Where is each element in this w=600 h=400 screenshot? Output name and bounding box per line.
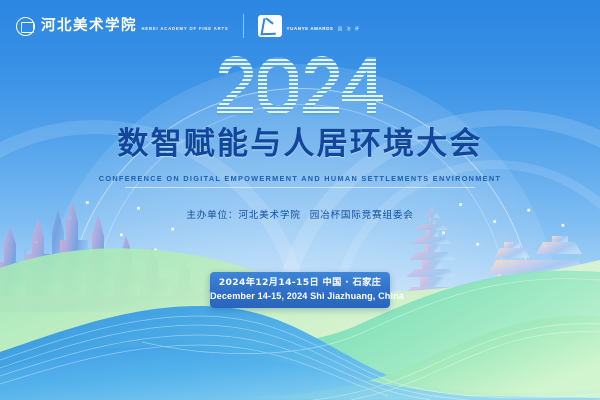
- poster-content: 数智赋能与人居环境大会 CONFERENCE ON DIGITAL EMPOWE…: [0, 0, 600, 400]
- year-2024-striped-glyphs: [215, 55, 385, 117]
- date-location-badge: 2024年12月14-15日 中国 · 石家庄 December 14-15, …: [210, 272, 390, 308]
- page-title: 数智赋能与人居环境大会: [0, 127, 600, 162]
- title-divider: [125, 187, 475, 188]
- date-location-cn: 2024年12月14-15日 中国 · 石家庄: [210, 277, 390, 289]
- page-subtitle-en: CONFERENCE ON DIGITAL EMPOWERMENT AND HU…: [0, 174, 600, 183]
- organizer-name-2: 园冶杯国际竞赛组委会: [310, 210, 414, 221]
- year-heading: [0, 55, 600, 117]
- date-location-en: December 14-15, 2024 Shi Jiazhuang, Chin…: [210, 290, 390, 302]
- organizer-name-1: 河北美术学院: [238, 210, 300, 221]
- organizer-line: 主办单位：河北美术学院园冶杯国际竞赛组委会: [0, 207, 600, 221]
- conference-poster: 河北美术学院 HEBEI ACADEMY OF FINE ARTS YUANYE…: [0, 0, 600, 400]
- organizer-label: 主办单位：: [186, 210, 238, 221]
